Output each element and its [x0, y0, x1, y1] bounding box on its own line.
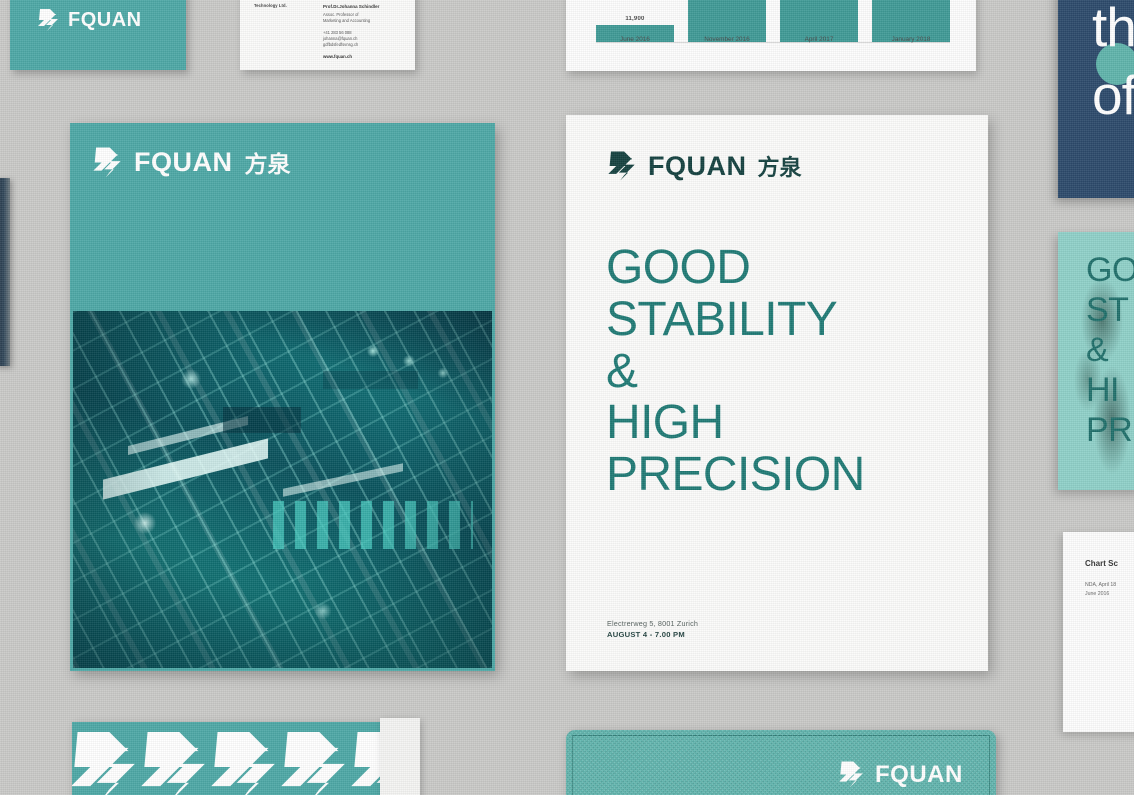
headline-line-1: GOOD: [606, 242, 865, 294]
card-contact-details: +41 283 56 088 johanna@fquan.ch gdfbdsfe…: [323, 30, 379, 49]
business-card-white: Technology Ltd. Prof.Dr.Johanna Schindle…: [240, 0, 415, 70]
chart-sheet: 11,90034,000 June 2016November 2016April…: [566, 0, 976, 71]
poster-address: Electrerweg 5, 8001 Zurich: [607, 619, 698, 628]
card-contact-block: Prof.Dr.Johanna Schindler Assoc. Profess…: [323, 4, 379, 59]
logo-lockup: FQUAN 方泉: [92, 145, 291, 179]
poster-main: FQUAN 方泉 GOODSTABILITY&HIGHPRECISION Ele…: [566, 115, 988, 671]
navy-headline-line-1: th: [1092, 0, 1134, 55]
wordmark: FQUAN: [875, 763, 963, 787]
doc-title: Chart Sc: [1085, 559, 1118, 568]
paper-strip: [380, 718, 420, 795]
logo-lockup: FQUAN: [838, 760, 963, 789]
card-person-role: Assoc. Professor of Marketing and Accoun…: [323, 12, 379, 24]
bar-category-label: January 2018: [872, 36, 950, 43]
pattern-motif: [278, 728, 348, 795]
headline-line-2: STABILITY: [606, 294, 865, 346]
card-person-name: Prof.Dr.Johanna Schindler: [323, 4, 379, 9]
bar-category-label: April 2017: [780, 36, 858, 43]
doc-subtitle: NDA, April 18 June 2016: [1085, 581, 1116, 599]
poster-headline: GOODSTABILITY&HIGHPRECISION: [606, 242, 865, 501]
edge-sliver-card: [0, 178, 10, 366]
bar-category-label: June 2016: [596, 36, 674, 43]
circuit-board-photo: [73, 311, 492, 668]
pattern-motif: [138, 728, 208, 795]
pattern-motif: [208, 728, 278, 795]
stitch-line-top: [572, 735, 990, 736]
teal-headline-line-5: PR: [1086, 410, 1134, 450]
wordmark: FQUAN: [648, 153, 747, 180]
fquan-arrow-mark-icon: [37, 8, 59, 32]
wordmark-cjk: 方泉: [245, 145, 291, 179]
brochure-cover: FQUAN 方泉: [70, 123, 495, 671]
headline-line-4: HIGH: [606, 397, 865, 449]
logo-lockup: FQUAN 方泉: [607, 150, 802, 182]
card-company-label: Technology Ltd.: [254, 3, 287, 8]
bar-category-label: November 2016: [688, 36, 766, 43]
mockup-canvas: FQUAN Technology Ltd. Prof.Dr.Johanna Sc…: [0, 0, 1134, 795]
teal-headline-line-4: HI: [1086, 370, 1134, 410]
poster-teal: GOST&HIPR: [1058, 232, 1134, 490]
bar-chart: 11,90034,000 June 2016November 2016April…: [596, 0, 950, 43]
stitch-line-left: [572, 735, 573, 795]
wordmark-cjk: 方泉: [758, 150, 802, 182]
navy-headline-line-2: of: [1092, 68, 1134, 123]
bar-value-label: 11,900: [625, 16, 644, 22]
chart-category-axis: June 2016November 2016April 2017January …: [596, 36, 950, 43]
fquan-arrow-mark-icon: [92, 146, 122, 179]
fquan-arrow-mark-icon: [607, 150, 636, 182]
card-website: www.fquan.ch: [323, 54, 379, 59]
business-card-teal: FQUAN: [10, 0, 186, 70]
wordmark: FQUAN: [68, 10, 142, 30]
photo-vignette: [73, 311, 492, 668]
document-chart-schedule: Chart Sc NDA, April 18 June 2016: [1063, 532, 1134, 732]
teal-headline-line-3: &: [1086, 330, 1134, 370]
headline-line-3: &: [606, 346, 865, 398]
logo-lockup: FQUAN: [37, 8, 142, 32]
wordmark: FQUAN: [134, 149, 233, 176]
teal-poster-headline: GOST&HIPR: [1086, 250, 1134, 451]
fquan-arrow-mark-icon: [838, 760, 864, 789]
pattern-card: [72, 722, 412, 795]
pattern-motif: [72, 728, 138, 795]
poster-navy: th of: [1058, 0, 1134, 198]
stitch-line-right: [989, 735, 990, 795]
headline-line-5: PRECISION: [606, 449, 865, 501]
poster-footer: Electrerweg 5, 8001 Zurich AUGUST 4 - 7.…: [607, 619, 698, 639]
teal-headline-line-1: GO: [1086, 250, 1134, 290]
folder-teal: FQUAN: [566, 730, 996, 795]
teal-headline-line-2: ST: [1086, 290, 1134, 330]
poster-date: AUGUST 4 - 7.00 PM: [607, 630, 698, 639]
